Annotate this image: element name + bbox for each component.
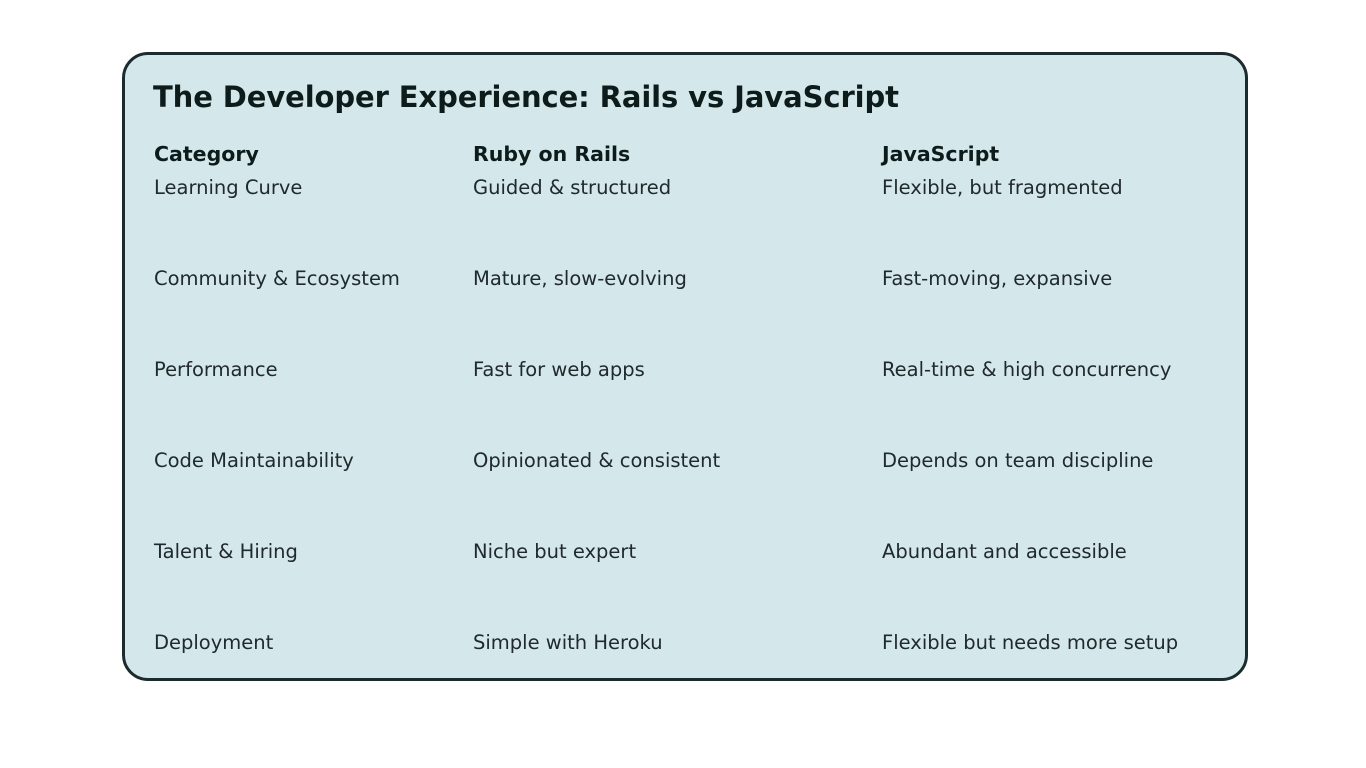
table-row: Code Maintainability Opinionated & consi… — [154, 449, 1229, 540]
cell-category: Community & Ecosystem — [154, 267, 473, 358]
table-row: Deployment Simple with Heroku Flexible b… — [154, 631, 1229, 671]
column-header-javascript: JavaScript — [882, 142, 1229, 176]
comparison-table: Category Ruby on Rails JavaScript Learni… — [154, 142, 1229, 671]
table-header-row: Category Ruby on Rails JavaScript — [154, 142, 1229, 176]
cell-javascript: Abundant and accessible — [882, 540, 1229, 631]
page-title: The Developer Experience: Rails vs JavaS… — [153, 81, 899, 114]
cell-javascript: Fast-moving, expansive — [882, 267, 1229, 358]
cell-javascript: Real-time & high concurrency — [882, 358, 1229, 449]
cell-category: Talent & Hiring — [154, 540, 473, 631]
cell-javascript: Flexible but needs more setup — [882, 631, 1229, 671]
cell-rails: Guided & structured — [473, 176, 882, 267]
column-header-category: Category — [154, 142, 473, 176]
cell-rails: Niche but expert — [473, 540, 882, 631]
cell-rails: Opinionated & consistent — [473, 449, 882, 540]
table-row: Talent & Hiring Niche but expert Abundan… — [154, 540, 1229, 631]
cell-rails: Simple with Heroku — [473, 631, 882, 671]
table-row: Learning Curve Guided & structured Flexi… — [154, 176, 1229, 267]
cell-javascript: Depends on team discipline — [882, 449, 1229, 540]
cell-category: Code Maintainability — [154, 449, 473, 540]
cell-category: Learning Curve — [154, 176, 473, 267]
cell-category: Performance — [154, 358, 473, 449]
column-header-rails: Ruby on Rails — [473, 142, 882, 176]
cell-category: Deployment — [154, 631, 473, 671]
cell-rails: Mature, slow-evolving — [473, 267, 882, 358]
cell-javascript: Flexible, but fragmented — [882, 176, 1229, 267]
table-header: Category Ruby on Rails JavaScript — [154, 142, 1229, 176]
table-body: Learning Curve Guided & structured Flexi… — [154, 176, 1229, 671]
comparison-card: The Developer Experience: Rails vs JavaS… — [122, 52, 1248, 681]
table-row: Performance Fast for web apps Real-time … — [154, 358, 1229, 449]
table-row: Community & Ecosystem Mature, slow-evolv… — [154, 267, 1229, 358]
card-content: The Developer Experience: Rails vs JavaS… — [153, 81, 1225, 668]
cell-rails: Fast for web apps — [473, 358, 882, 449]
